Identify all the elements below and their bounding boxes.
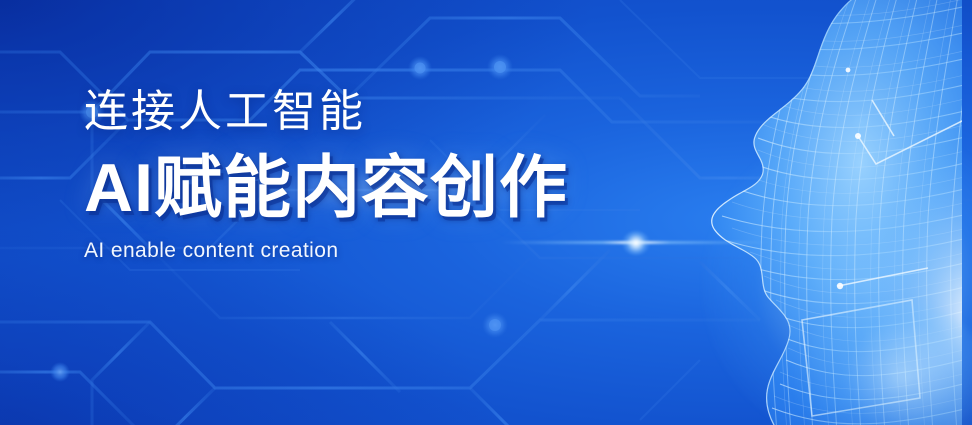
ai-banner: 连接人工智能 AI赋能内容创作 AI enable content creati… (0, 0, 972, 425)
main-headline: AI赋能内容创作 (84, 152, 644, 224)
headline-block: 连接人工智能 AI赋能内容创作 AI enable content creati… (84, 88, 644, 263)
subtitle-text: AI enable content creation (84, 238, 644, 263)
eyebrow-text: 连接人工智能 (84, 88, 644, 136)
